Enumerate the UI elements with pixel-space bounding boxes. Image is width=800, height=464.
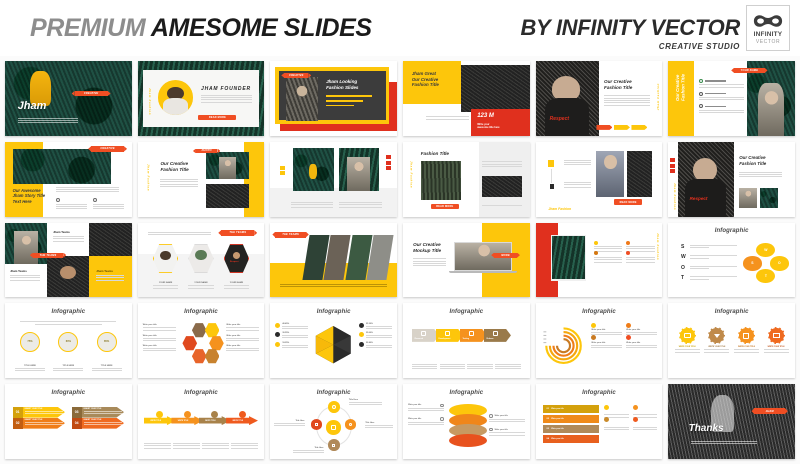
bullet-dot: [626, 251, 630, 255]
team-name: Jham Teams: [96, 269, 113, 273]
bullet-dot: [594, 251, 598, 255]
slide-title: Infographic: [270, 390, 397, 396]
slide-team-slanted-gallery[interactable]: The Teams: [270, 223, 397, 298]
hex-pie-chart: [313, 323, 354, 366]
slide-cell[interactable]: Infographic 75% 60% 85%: [2, 300, 135, 381]
hex-label: Write your title: [226, 324, 259, 326]
body-lines: [426, 116, 469, 119]
circle-label: TITLE HERE: [15, 365, 45, 367]
slide-badge: Creative: [91, 146, 124, 151]
slide-title: Jham Great Our Creative Fashion Title: [412, 71, 439, 88]
arrow-label: INSERT YOUR TITLE: [25, 408, 63, 410]
slide-infographic-numbered-arrows[interactable]: Infographic 01 INSERT YOUR TITLE 03 INSE…: [5, 384, 132, 459]
slide-infographic-hex-cluster[interactable]: Infographic Write your title Write your …: [138, 303, 265, 378]
slide-title: Infographic: [270, 309, 397, 315]
slide-cell[interactable]: Infographic S W O T: [665, 220, 798, 301]
step-label: WRITE TITLE: [150, 420, 161, 422]
brand-tagline: CREATIVE STUDIO: [520, 42, 740, 51]
slide-vert-label: Jham Fashion: [673, 183, 677, 210]
slide-our-creative-fashion-two-img[interactable]: Jham Fashion Our Creative Fashion Title …: [138, 142, 265, 217]
step-icon: [421, 331, 426, 336]
slide-title: Jham: [18, 100, 47, 114]
slide-title: Our Creative Fashion Title: [675, 74, 686, 101]
slide-vert-label: Jham Fashion: [656, 233, 660, 260]
step-icon: [493, 331, 498, 336]
step-label: Development: [439, 338, 451, 340]
spiral-legend: Write your title Write your title Write …: [591, 323, 657, 348]
slide-title: Our Creative Fashion Title: [739, 155, 766, 166]
step-circle: [184, 411, 191, 418]
slide-cell[interactable]: Infographic Write your title: [533, 300, 666, 381]
bullet-dot: [594, 241, 598, 245]
cycle-label-bottom: Title Here: [293, 447, 323, 453]
legend-dot: [626, 335, 631, 340]
step-circle: [156, 411, 163, 418]
step-label: WRITE TITLE: [205, 420, 216, 422]
slide-infographic-spiral[interactable]: Infographic Write your title: [536, 303, 663, 378]
globe-icon: [93, 198, 97, 202]
slide-badge: More: [494, 253, 517, 258]
slide-title: Fashion Title: [421, 151, 449, 157]
slide-cell[interactable]: Jham Thanks: [665, 381, 798, 462]
body-lines: [96, 275, 124, 280]
slide-jham-looking-fashion[interactable]: Creative Jham Looking Fashion Slides: [270, 61, 397, 136]
body-lines-bottom: [564, 182, 592, 187]
download-icon-circle: [708, 327, 725, 344]
infinity-icon: [751, 12, 785, 30]
left-marks: [670, 158, 675, 173]
circle-label: TITLE HERE: [53, 365, 83, 367]
icon-captions: [56, 198, 124, 209]
slide-badge: The Teams: [275, 232, 305, 238]
slide-infographic-circle-cycle[interactable]: Infographic Title: [270, 384, 397, 459]
slide-badge: Your Name: [734, 68, 764, 73]
caption-lines: [482, 205, 523, 206]
slide-cell[interactable]: Jham Great Our Creative Fashion Title 12…: [400, 58, 533, 139]
step-label: Release: [486, 338, 493, 340]
slide-infographic-three-circles[interactable]: Infographic 75% 60% 85%: [5, 303, 132, 378]
title-rest: AMESOME SLIDES: [151, 14, 372, 42]
bulb-icon: [440, 417, 444, 421]
circle-label: TITLE HERE: [92, 365, 122, 367]
hex-label: Write your title: [143, 335, 176, 337]
body-lines: [56, 187, 119, 192]
bar-number: 04: [544, 438, 551, 440]
petal-o: O: [770, 256, 789, 270]
member-name: YOUR NAME: [153, 282, 178, 284]
slide-jham-fashion-icons[interactable]: READ MORE Jham Fashion: [536, 142, 663, 217]
slide-title: Infographic: [403, 390, 530, 396]
bar-number: 02: [544, 418, 551, 420]
slide-title: Thanks: [689, 423, 724, 436]
legend-dot: [275, 323, 280, 328]
swot-letter: W: [681, 254, 687, 260]
legend-dot: [591, 323, 596, 328]
bar-number: 01: [544, 408, 551, 410]
slide-cell[interactable]: Jham Fashion Fashion Title READ MORE: [400, 139, 533, 220]
body-lines: [18, 118, 79, 123]
step-icon: [469, 331, 474, 336]
caption-lines: [280, 284, 386, 287]
icon-label: WRITE YOUR TITLE: [704, 346, 729, 348]
slide-badge: The Teams: [33, 253, 63, 258]
arrow-number: 04: [72, 418, 82, 429]
member-caption: YOUR NAME: [153, 282, 178, 289]
read-more-button[interactable]: READ MORE: [431, 204, 459, 209]
ribbon-legend: [604, 405, 657, 430]
member-name: YOUR NAME: [188, 282, 213, 284]
logo-sub: VECTOR: [756, 39, 780, 45]
slide-title: Infographic: [403, 309, 530, 315]
body-lines: [160, 179, 198, 187]
chevron-row: Research Development Testing Release: [412, 329, 521, 342]
slide-overlay-text: Respect: [550, 116, 569, 122]
right-marks: [386, 155, 391, 170]
cycle-node-center: [326, 420, 342, 434]
right-captions: Write your title Write your title: [489, 414, 524, 435]
body-lines-top: [564, 160, 592, 165]
bar-label: Write your title: [551, 408, 564, 410]
slide-thanks-closing[interactable]: Jham Thanks: [668, 384, 795, 459]
swot-rows: S W O T: [681, 244, 737, 282]
swot-letter: S: [681, 244, 687, 250]
read-more-button[interactable]: READ MORE: [614, 199, 642, 204]
step-label: WRITE TITLE: [232, 420, 243, 422]
bar-number: 03: [544, 428, 551, 430]
step-label: WRITE TITLE: [178, 420, 189, 422]
slide-badge: Creative: [284, 73, 308, 78]
body-lines: [201, 95, 252, 103]
legend-dot: [591, 335, 596, 340]
hex-label: Write your title: [143, 345, 176, 347]
pencil-icon: [56, 198, 60, 202]
slide-title: Infographic: [138, 390, 265, 396]
slide-respect-our-creative-b[interactable]: Respect Jham Fashion Our Creative Fashio…: [668, 142, 795, 217]
cycle-diagram: [312, 402, 355, 450]
slide-infographic-four-icons[interactable]: Infographic WRITE YOUR TITLE WRITE YOUR …: [668, 303, 795, 378]
slide-jham-founder[interactable]: Jham Fashion JHAM FOUNDER READ MORE: [138, 61, 265, 136]
arrow-number: 03: [72, 407, 82, 418]
camera-icon-circle: [679, 327, 696, 344]
icon-circle-row: WRITE YOUR TITLE WRITE YOUR TITLE WRITE …: [675, 327, 789, 352]
slide-fashion-title-gallery[interactable]: Jham Fashion Fashion Title READ MORE: [403, 142, 530, 217]
slide-our-awesome-jham-story[interactable]: Our Awesome Jham Story Title Text Here C…: [5, 142, 132, 217]
slide-our-creative-mockup[interactable]: Our Creative Mockup Title More: [403, 223, 530, 298]
arrow-number: 02: [13, 418, 23, 429]
brand-name: BY INFINITY VECTOR: [520, 17, 740, 39]
donut-chart: 60%: [58, 332, 78, 352]
gear-icon: [699, 92, 703, 96]
petal-s: S: [743, 256, 762, 270]
hex-label: Write your title: [143, 324, 176, 326]
step-label: Testing: [462, 338, 469, 340]
slide-title: Infographic: [536, 390, 663, 396]
slide-title: Our Awesome Jham Story Title Text Here: [13, 188, 46, 204]
caption-row: TITLE HERE TITLE HERE TITLE HERE: [15, 365, 121, 371]
slide-cell[interactable]: Infographic Research Development Testing…: [400, 300, 533, 381]
bag-icon-circle: [738, 327, 755, 344]
page-header: PREMIUM AMESOME SLIDES BY INFINITY VECTO…: [0, 0, 800, 56]
right-legend: 25.30% 35.60% 22.40%: [359, 323, 392, 348]
stat-sub: Write your awesome title here: [477, 123, 499, 130]
member-caption: YOUR NAME: [188, 282, 213, 289]
slide-title: JHAM FOUNDER: [201, 86, 251, 92]
slide-badge: Photo: [196, 149, 218, 154]
cycle-node-right: [345, 419, 356, 430]
slide-cell[interactable]: READ MORE Jham Fashion: [533, 139, 666, 220]
bar-label: Write your title: [551, 418, 564, 420]
slide-footer: Jham Fashion: [548, 207, 571, 211]
slide-vert-label: Jham Fashion: [409, 161, 413, 188]
slide-cell[interactable]: [267, 139, 400, 220]
body-lines: [53, 236, 83, 241]
step-icon: [445, 331, 450, 336]
bullet-icon: [489, 428, 493, 432]
slide-two-image-captions[interactable]: [270, 142, 397, 217]
left-marks: [280, 166, 285, 176]
slide-title: Infographic: [668, 309, 795, 315]
circle-row: 75% 60% 85%: [15, 332, 121, 352]
cycle-label-left: Title Here: [274, 420, 304, 426]
leaf-icon: [440, 404, 444, 408]
slide-cell[interactable]: Infographic 01 INSERT YOUR TITLE 03 INSE…: [2, 381, 135, 462]
bar-stats: [326, 95, 379, 106]
body-lines: [413, 258, 446, 266]
legend-dot: [275, 342, 280, 347]
arrow-label: INSERT YOUR TITLE: [84, 408, 122, 410]
icon-label: WRITE YOUR TITLE: [734, 346, 759, 348]
swot-letter: T: [681, 275, 687, 281]
timeline-captions: [144, 443, 258, 448]
donut-chart: 85%: [97, 332, 117, 352]
slide-cell[interactable]: Jham Fashion: [533, 220, 666, 301]
slide-title: Infographic: [138, 309, 265, 315]
caption-row: [291, 202, 382, 207]
arrow-number: 01: [13, 407, 23, 418]
slide-cell[interactable]: Jham Teams Jham Teams Jham Teams The Tea…: [2, 220, 135, 301]
legend-dot: [604, 417, 609, 422]
numbered-arrow-grid: 01 INSERT YOUR TITLE 03 INSERT YOUR TITL…: [13, 407, 124, 429]
donut-chart: 75%: [20, 332, 40, 352]
monitor-icon-circle: [768, 327, 785, 344]
slide-title: Our Creative Fashion Title: [604, 79, 632, 90]
slide-grid: Jham Creative Jham Fashion JHAM FOUNDER …: [0, 56, 800, 464]
slide-title: Our Creative Fashion Title: [160, 161, 188, 172]
arrow-row: WRITE TITLE WRITE TITLE WRITE TITLE: [144, 411, 258, 425]
slide-cell[interactable]: Our Awesome Jham Story Title Text Here C…: [2, 139, 135, 220]
disk-4: [449, 434, 487, 447]
ribbon-bar-stack: 01 Write your title 02 Write your title …: [543, 405, 599, 443]
bar-label: Write your title: [551, 428, 564, 430]
logo-name: INFINITY: [754, 31, 783, 38]
legend-dot: [359, 323, 364, 328]
disk-stack: [449, 404, 487, 450]
step-label: Research: [415, 338, 424, 340]
slide-title: Infographic: [5, 309, 132, 315]
slide-cell[interactable]: Infographic WRITE TITLE WRITE TITLE: [135, 381, 268, 462]
slide-our-creative-checklist[interactable]: Our Creative Fashion Title Your Name: [668, 61, 795, 136]
slide-vert-label: Jham Fashion: [656, 83, 660, 110]
stat-value: 123 M: [477, 113, 494, 121]
slide-title: Infographic: [536, 309, 663, 315]
intro-lines: [20, 321, 116, 324]
point-grid: [594, 241, 655, 263]
slide-cover-jham[interactable]: Jham Creative: [5, 61, 132, 136]
read-more-button[interactable]: READ MORE: [198, 115, 236, 120]
legend-dot: [359, 332, 364, 337]
slide-vert-label: Jham Fashion: [148, 88, 152, 115]
slide-cell[interactable]: Jham Creative: [2, 58, 135, 139]
slide-team-hexagons[interactable]: The Teams Respect YOUR NAME YOUR NAME YO…: [138, 223, 265, 298]
legend-dot: [604, 405, 609, 410]
hex-label: Write your title: [226, 335, 259, 337]
left-captions: Write your title Write your title: [408, 404, 443, 425]
team-name: Jham Teams: [53, 230, 70, 234]
slide-cell[interactable]: Jham Fashion Our Creative Fashion Title …: [135, 139, 268, 220]
slide-cell[interactable]: Creative Jham Looking Fashion Slides: [267, 58, 400, 139]
step-circle: [239, 411, 246, 418]
slide-infographic-arrow-timeline[interactable]: Infographic WRITE TITLE WRITE TITLE: [138, 384, 265, 459]
body-lines: [604, 95, 650, 105]
step-chevrons: [596, 125, 647, 130]
left-labels: Write your title Write your title Write …: [143, 324, 176, 351]
swot-petals: S W O T: [742, 242, 790, 284]
slide-infographic-stacked-disks[interactable]: Infographic Write your title Write your …: [403, 384, 530, 459]
slide-respect-our-creative[interactable]: Respect Our Creative Fashion Title Jham …: [536, 61, 663, 136]
page-title: PREMIUM AMESOME SLIDES: [30, 14, 372, 43]
slide-overlay-text: Respect: [690, 196, 708, 202]
slide-cell[interactable]: Our Creative Mockup Title More: [400, 220, 533, 301]
slide-badge: Jham: [754, 408, 784, 414]
swot-letter: O: [681, 265, 687, 271]
slide-cell[interactable]: Infographic Title: [267, 381, 400, 462]
title-premium: PREMIUM: [30, 14, 151, 42]
slide-cell[interactable]: The Teams Respect YOUR NAME YOUR NAME YO…: [135, 220, 268, 301]
cycle-node-top: [328, 401, 340, 412]
clock-icon: [699, 104, 703, 108]
slide-infographic-chevrons[interactable]: Infographic Research Development Testing…: [403, 303, 530, 378]
checklist: [699, 79, 745, 113]
slide-cell[interactable]: The Teams: [267, 220, 400, 301]
arrow-label: INSERT YOUR TITLE: [84, 419, 122, 421]
slide-cell[interactable]: Infographic Write your title Write your …: [400, 381, 533, 462]
slide-cell[interactable]: Infographic 40.45% 30.55%: [267, 300, 400, 381]
slide-cell[interactable]: Jham Fashion JHAM FOUNDER READ MORE: [135, 58, 268, 139]
intro-lines: [148, 232, 211, 235]
cycle-label-top: Title Here: [349, 399, 382, 405]
hex-cluster: [181, 323, 224, 366]
bullet-dot: [626, 241, 630, 245]
petal-w: W: [756, 243, 775, 257]
laptop-mockup: [454, 242, 512, 276]
body-lines: [739, 172, 782, 177]
slide-tablet-mockup-four-points[interactable]: Jham Fashion: [536, 223, 663, 298]
arrow-label: INSERT YOUR TITLE: [25, 419, 63, 421]
icon-label: WRITE YOUR TITLE: [675, 346, 700, 348]
team-name: Jham Teams: [10, 269, 27, 273]
petal-t: T: [756, 269, 775, 283]
slide-title: Jham Looking Fashion Slides: [326, 79, 358, 90]
slide-cell[interactable]: Respect Our Creative Fashion Title Jham …: [533, 58, 666, 139]
slide-jham-great-creative[interactable]: Jham Great Our Creative Fashion Title 12…: [403, 61, 530, 136]
slide-cell[interactable]: Infographic Write your title Write your …: [135, 300, 268, 381]
slide-infographic-pie-hex[interactable]: Infographic 40.45% 30.55%: [270, 303, 397, 378]
slide-badge: The Teams: [221, 230, 254, 236]
step-circle: [211, 411, 218, 418]
slide-cell[interactable]: Infographic WRITE YOUR TITLE WRITE YOUR …: [665, 300, 798, 381]
slide-cell[interactable]: Our Creative Fashion Title Your Name: [665, 58, 798, 139]
bullet-icon: [489, 414, 493, 418]
slide-infographic-ribbon-bars[interactable]: Infographic 01 Write your title 02 Write…: [536, 384, 663, 459]
body-lines: [482, 161, 523, 166]
cycle-node-bottom: [328, 439, 340, 450]
chevron-captions: [412, 364, 521, 369]
slide-title: Infographic: [668, 228, 795, 234]
slide-badge: Creative: [75, 91, 108, 96]
right-labels: Write your title Write your title Write …: [226, 324, 259, 351]
legend-dot: [359, 342, 364, 347]
legend-dot: [275, 332, 280, 337]
bar-label: Write your title: [551, 438, 564, 440]
body-lines: [691, 441, 757, 444]
slide-infographic-swot[interactable]: Infographic S W O T: [668, 223, 795, 298]
slide-cell[interactable]: Infographic 01 Write your title 02 Write…: [533, 381, 666, 462]
icon-label: WRITE YOUR TITLE: [764, 346, 789, 348]
slide-vert-label: Jham Fashion: [147, 164, 151, 191]
slide-title: Infographic: [5, 390, 132, 396]
hex-label: Write your title: [226, 345, 259, 347]
legend-dot: [626, 323, 631, 328]
cycle-label-right: Title Here: [365, 422, 393, 428]
member-name: YOUR NAME: [224, 282, 249, 284]
spiral-chart: [542, 324, 585, 367]
brand-block: BY INFINITY VECTOR CREATIVE STUDIO INFIN…: [520, 5, 790, 51]
member-caption: YOUR NAME: [224, 282, 249, 289]
legend-dot: [633, 405, 638, 410]
slide-title: Our Creative Mockup Title: [413, 242, 441, 253]
check-icon: [699, 79, 703, 83]
legend-dot: [633, 417, 638, 422]
brand-logo: INFINITY VECTOR: [746, 5, 790, 51]
body-lines: [10, 275, 40, 280]
left-legend: 40.45% 30.55% 18.25%: [275, 323, 308, 348]
slide-team-grid[interactable]: Jham Teams Jham Teams Jham Teams The Tea…: [5, 223, 132, 298]
slide-cell[interactable]: Respect Jham Fashion Our Creative Fashio…: [665, 139, 798, 220]
